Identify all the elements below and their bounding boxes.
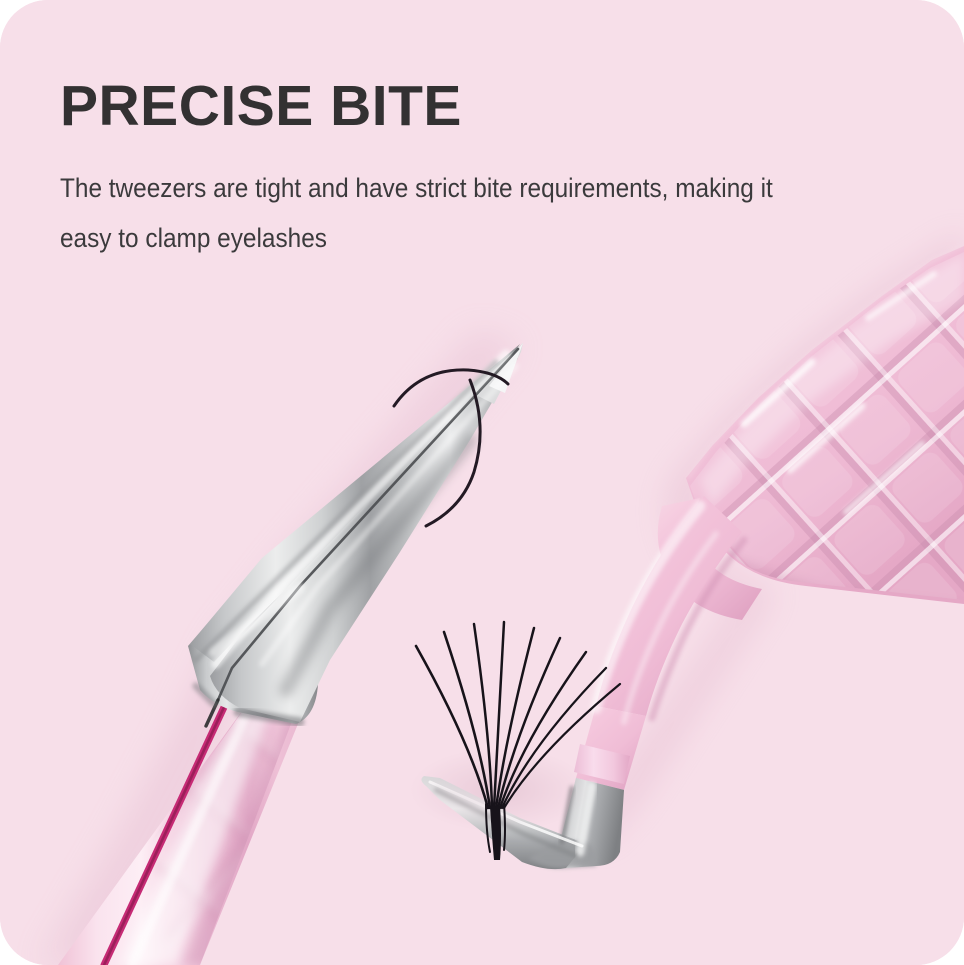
text-block: PRECISE BITE The tweezers are tight and … [60,78,860,263]
product-feature-card: PRECISE BITE The tweezers are tight and … [0,0,964,965]
page-subtitle: The tweezers are tight and have strict b… [60,135,796,263]
page-title: PRECISE BITE [60,78,860,135]
